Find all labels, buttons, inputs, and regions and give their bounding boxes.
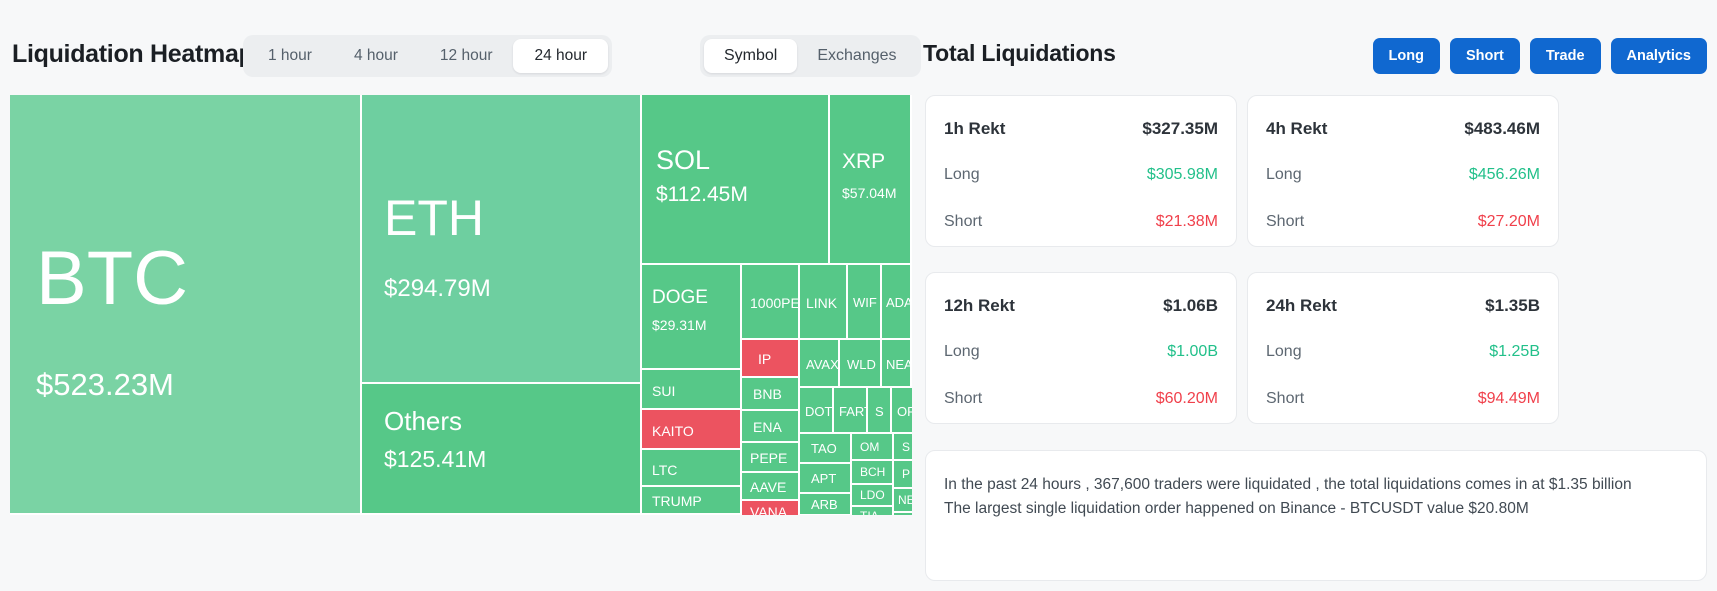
tile-symbol: WIF xyxy=(853,295,877,310)
card-total-row: 12h Rekt$1.06B xyxy=(944,296,1218,316)
card-short-label: Short xyxy=(1266,390,1304,408)
treemap-tile-wif[interactable]: WIF xyxy=(848,265,882,340)
tile-symbol: LTC xyxy=(652,462,677,478)
total-liquidations-title: Total Liquidations xyxy=(923,40,1116,67)
tile-symbol: DOGE xyxy=(652,287,708,309)
treemap-tile-trump[interactable]: TRUMP xyxy=(642,487,742,515)
tile-symbol: PEPE xyxy=(750,450,787,466)
tile-symbol: P xyxy=(902,467,910,481)
treemap-tile-ltc[interactable]: LTC xyxy=(642,450,742,487)
tile-symbol: ADA xyxy=(886,295,912,310)
treemap-tile-s[interactable]: S xyxy=(868,388,892,434)
treemap-tile-ena[interactable]: ENA xyxy=(742,411,800,443)
analytics-button[interactable]: Analytics xyxy=(1611,38,1707,74)
treemap-tile-bch[interactable]: BCH xyxy=(852,461,894,485)
timeframe-12-hour[interactable]: 12 hour xyxy=(419,39,514,73)
treemap-tile-ada[interactable]: ADA xyxy=(882,265,912,340)
treemap-tile-sol[interactable]: SOL$112.45M xyxy=(642,95,830,265)
card-title: 1h Rekt xyxy=(944,119,1005,139)
page-header: Liquidation Heatmap 1 hour4 hour12 hour2… xyxy=(0,0,1717,95)
tile-symbol: APT xyxy=(811,471,836,486)
card-long-value: $1.00B xyxy=(1167,343,1218,361)
treemap-tile-others[interactable]: Others$125.41M xyxy=(362,384,642,515)
tile-symbol: S xyxy=(902,440,910,454)
card-long-row: Long$1.00B xyxy=(944,343,1218,361)
rekt-cards: 1h Rekt$327.35MLong$305.98MShort$21.38M4… xyxy=(925,95,1707,445)
trade-button[interactable]: Trade xyxy=(1530,38,1601,74)
card-short-value: $94.49M xyxy=(1478,390,1540,408)
treemap-tile-bnb[interactable]: BNB xyxy=(742,378,800,411)
tile-symbol: TIA xyxy=(860,509,879,515)
card-long-row: Long$305.98M xyxy=(944,166,1218,184)
tile-symbol: OM xyxy=(860,440,879,454)
timeframe-24-hour[interactable]: 24 hour xyxy=(513,39,608,73)
long-button[interactable]: Long xyxy=(1373,38,1440,74)
card-total-value: $483.46M xyxy=(1464,119,1540,139)
card-title: 24h Rekt xyxy=(1266,296,1337,316)
tile-symbol: SUI xyxy=(652,383,675,399)
card-long-label: Long xyxy=(1266,166,1302,184)
treemap-tile-xrp[interactable]: XRP$57.04M xyxy=(830,95,912,265)
summary-line-2: The largest single liquidation order hap… xyxy=(944,497,1688,521)
tile-symbol: ENA xyxy=(753,419,782,435)
treemap-tile-kaito[interactable]: KAITO xyxy=(642,410,742,450)
card-short-row: Short$21.38M xyxy=(944,213,1218,231)
card-long-label: Long xyxy=(1266,343,1302,361)
tile-symbol: S xyxy=(875,404,884,419)
tile-symbol: BTC xyxy=(36,235,188,322)
tile-symbol: XRP xyxy=(842,150,885,174)
short-button[interactable]: Short xyxy=(1450,38,1520,74)
liquidation-dashboard: Liquidation Heatmap 1 hour4 hour12 hour2… xyxy=(0,0,1717,591)
tile-symbol: DOT xyxy=(805,404,832,419)
card-title: 12h Rekt xyxy=(944,296,1015,316)
card-total-value: $1.35B xyxy=(1485,296,1540,316)
treemap-tile-ldo[interactable]: LDO xyxy=(852,485,894,507)
tile-symbol: IP xyxy=(758,351,771,367)
liquidation-treemap[interactable]: BTC$523.23METH$294.79MOthers$125.41MSOL$… xyxy=(10,95,912,515)
treemap-tile-arb[interactable]: ARB xyxy=(800,494,852,515)
tile-value: $112.45M xyxy=(656,183,748,207)
action-buttons: LongShortTradeAnalytics xyxy=(1373,38,1707,74)
card-long-value: $456.26M xyxy=(1469,166,1540,184)
treemap-tile-s[interactable]: S xyxy=(894,434,912,461)
card-total-value: $1.06B xyxy=(1163,296,1218,316)
treemap-tile-om[interactable]: OM xyxy=(852,434,894,461)
treemap-tile-dot[interactable]: DOT xyxy=(800,388,834,434)
tile-value: $125.41M xyxy=(384,446,486,473)
view-mode-symbol[interactable]: Symbol xyxy=(704,39,797,73)
timeframe-selector[interactable]: 1 hour4 hour12 hour24 hour xyxy=(243,35,612,77)
tile-symbol: LDO xyxy=(860,488,885,502)
card-short-value: $27.20M xyxy=(1478,213,1540,231)
treemap-tile-avax[interactable]: AVAX xyxy=(800,340,840,388)
card-total-row: 24h Rekt$1.35B xyxy=(1266,296,1540,316)
card-long-value: $305.98M xyxy=(1147,166,1218,184)
treemap-tile-ne[interactable]: NE xyxy=(894,489,912,513)
treemap-tile-fartcoin[interactable]: FARTCOIN xyxy=(834,388,868,434)
view-mode-selector[interactable]: SymbolExchanges xyxy=(700,35,921,77)
treemap-tile-apt[interactable]: APT xyxy=(800,464,852,494)
card-total-row: 4h Rekt$483.46M xyxy=(1266,119,1540,139)
tile-symbol: VANA xyxy=(750,504,787,515)
card-short-row: Short$60.20M xyxy=(944,390,1218,408)
treemap-tile-tao[interactable]: TAO xyxy=(800,434,852,464)
treemap-tile-near[interactable]: NEAR xyxy=(882,340,912,388)
treemap-tile-eth[interactable]: ETH$294.79M xyxy=(362,95,642,384)
treemap-tile-p[interactable]: P xyxy=(894,461,912,489)
tile-symbol: NEAR xyxy=(886,357,912,372)
treemap-tile-doge[interactable]: DOGE$29.31M xyxy=(642,265,742,370)
card-total-value: $327.35M xyxy=(1142,119,1218,139)
tile-symbol: ARB xyxy=(811,497,838,512)
treemap-tile-link[interactable]: LINK xyxy=(800,265,848,340)
card-short-value: $21.38M xyxy=(1156,213,1218,231)
card-short-row: Short$94.49M xyxy=(1266,390,1540,408)
timeframe-1-hour[interactable]: 1 hour xyxy=(247,39,333,73)
tile-symbol: 1000PEPE xyxy=(750,295,800,311)
treemap-tile-ip[interactable]: IP xyxy=(742,340,800,378)
tile-value: $523.23M xyxy=(36,367,174,403)
card-short-label: Short xyxy=(944,213,982,231)
card-long-label: Long xyxy=(944,343,980,361)
tile-value: $294.79M xyxy=(384,275,491,303)
card-long-row: Long$456.26M xyxy=(1266,166,1540,184)
tile-symbol: SOL xyxy=(656,145,710,176)
card-short-label: Short xyxy=(1266,213,1304,231)
card-total-row: 1h Rekt$327.35M xyxy=(944,119,1218,139)
card-long-row: Long$1.25B xyxy=(1266,343,1540,361)
card-short-label: Short xyxy=(944,390,982,408)
summary-panel: In the past 24 hours , 367,600 traders w… xyxy=(925,450,1707,581)
card-long-value: $1.25B xyxy=(1489,343,1540,361)
page-title: Liquidation Heatmap xyxy=(12,40,254,69)
tile-symbol: NE xyxy=(898,493,912,507)
tile-symbol: ETH xyxy=(384,189,484,247)
treemap-tile-sui[interactable]: SUI xyxy=(642,370,742,410)
treemap-tile-wld[interactable]: WLD xyxy=(840,340,882,388)
tile-symbol: OP xyxy=(897,404,912,419)
tile-symbol: TRUMP xyxy=(652,493,702,509)
card-long-label: Long xyxy=(944,166,980,184)
treemap-tile-1000pepe[interactable]: 1000PEPE xyxy=(742,265,800,340)
rekt-card-12h: 12h Rekt$1.06BLong$1.00BShort$60.20M xyxy=(925,272,1237,424)
tile-symbol: KAITO xyxy=(652,423,694,439)
treemap-tile-vana[interactable]: VANA xyxy=(742,501,800,515)
timeframe-4-hour[interactable]: 4 hour xyxy=(333,39,419,73)
tile-symbol: FARTCOIN xyxy=(839,404,868,419)
treemap-tile-aave[interactable]: AAVE xyxy=(742,473,800,501)
tile-symbol: BCH xyxy=(860,465,885,479)
rekt-card-1h: 1h Rekt$327.35MLong$305.98MShort$21.38M xyxy=(925,95,1237,247)
treemap-tile-hy[interactable]: HY xyxy=(894,513,912,515)
treemap-tile-tia[interactable]: TIA xyxy=(852,507,894,515)
tile-symbol: BNB xyxy=(753,386,782,402)
view-mode-exchanges[interactable]: Exchanges xyxy=(797,39,916,73)
tile-symbol: AAVE xyxy=(750,479,786,495)
tile-value: $57.04M xyxy=(842,185,896,201)
card-short-row: Short$27.20M xyxy=(1266,213,1540,231)
treemap-tile-pepe[interactable]: PEPE xyxy=(742,443,800,473)
treemap-tile-btc[interactable]: BTC$523.23M xyxy=(10,95,362,515)
card-title: 4h Rekt xyxy=(1266,119,1327,139)
tile-symbol: Others xyxy=(384,406,462,437)
rekt-card-4h: 4h Rekt$483.46MLong$456.26MShort$27.20M xyxy=(1247,95,1559,247)
card-short-value: $60.20M xyxy=(1156,390,1218,408)
tile-value: $29.31M xyxy=(652,317,706,333)
tile-symbol: AVAX xyxy=(806,357,839,372)
summary-line-1: In the past 24 hours , 367,600 traders w… xyxy=(944,473,1688,497)
treemap-tile-op[interactable]: OP xyxy=(892,388,912,434)
tile-symbol: TAO xyxy=(811,441,837,456)
tile-symbol: LINK xyxy=(806,295,837,311)
tile-symbol: WLD xyxy=(847,357,876,372)
rekt-card-24h: 24h Rekt$1.35BLong$1.25BShort$94.49M xyxy=(1247,272,1559,424)
